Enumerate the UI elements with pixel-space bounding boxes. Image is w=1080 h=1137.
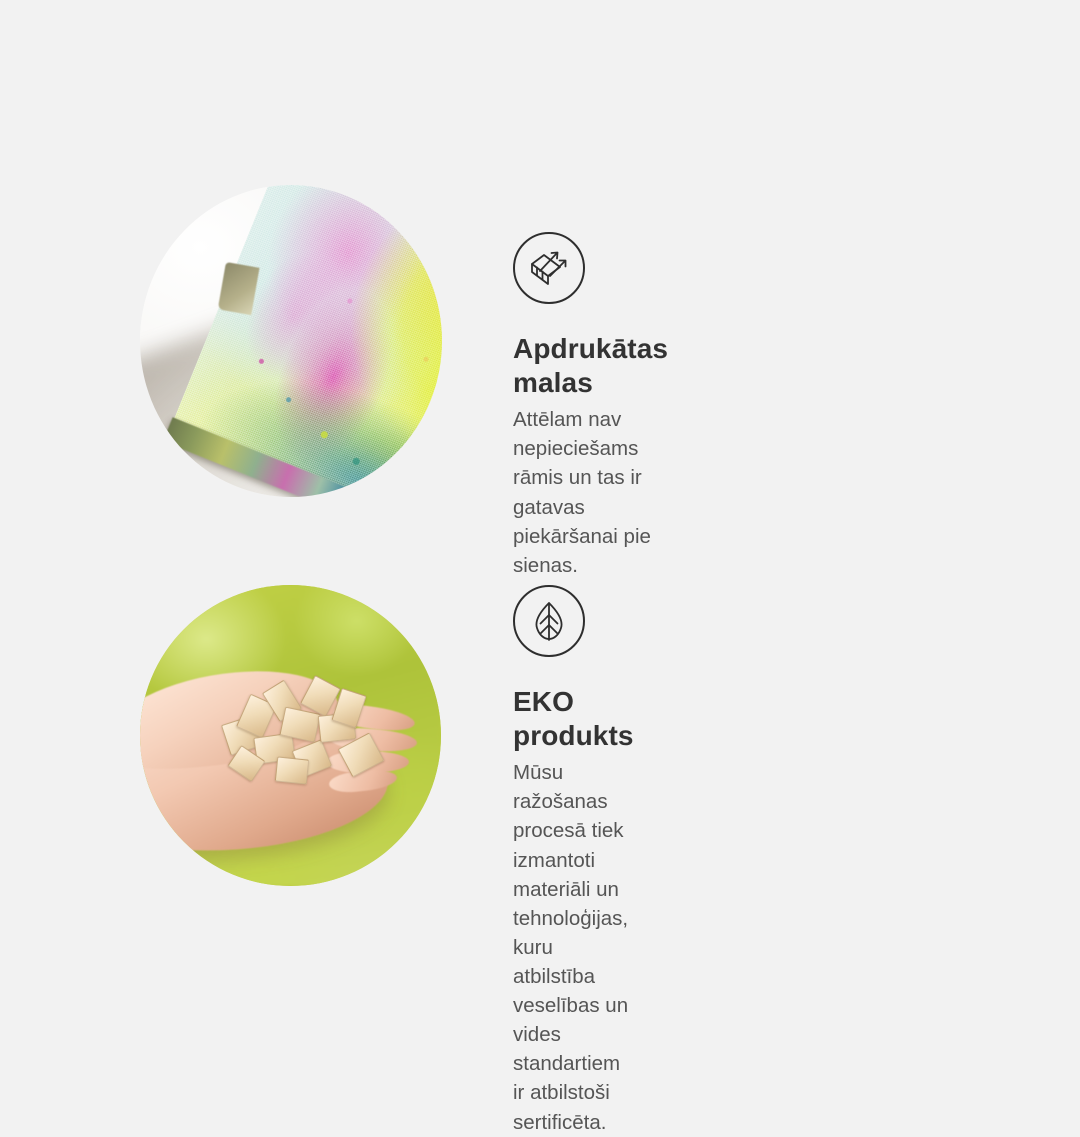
feature-text-printed-edges: Apdrukātas malas Attēlam nav nepieciešam… [513, 232, 668, 580]
wood-chips-pile [218, 675, 387, 789]
leaf-glyph [527, 599, 571, 643]
feature-description: Attēlam nav nepieciešams rāmis un tas ir… [513, 405, 668, 580]
feature-panel: Apdrukātas malas Attēlam nav nepieciešam… [0, 0, 1080, 1080]
feature-title: EKO produkts [513, 685, 634, 752]
canvas-print-corner-photo [140, 185, 442, 497]
hands-holding-wood-chips-photo [140, 585, 441, 886]
feature-text-eko-product: EKO produkts Mūsu ražošanas procesā tiek… [513, 585, 634, 1137]
printed-edges-glyph [526, 245, 572, 291]
leaf-icon [513, 585, 585, 657]
feature-title: Apdrukātas malas [513, 332, 668, 399]
wood-chip [274, 756, 309, 784]
printed-edges-icon [513, 232, 585, 304]
